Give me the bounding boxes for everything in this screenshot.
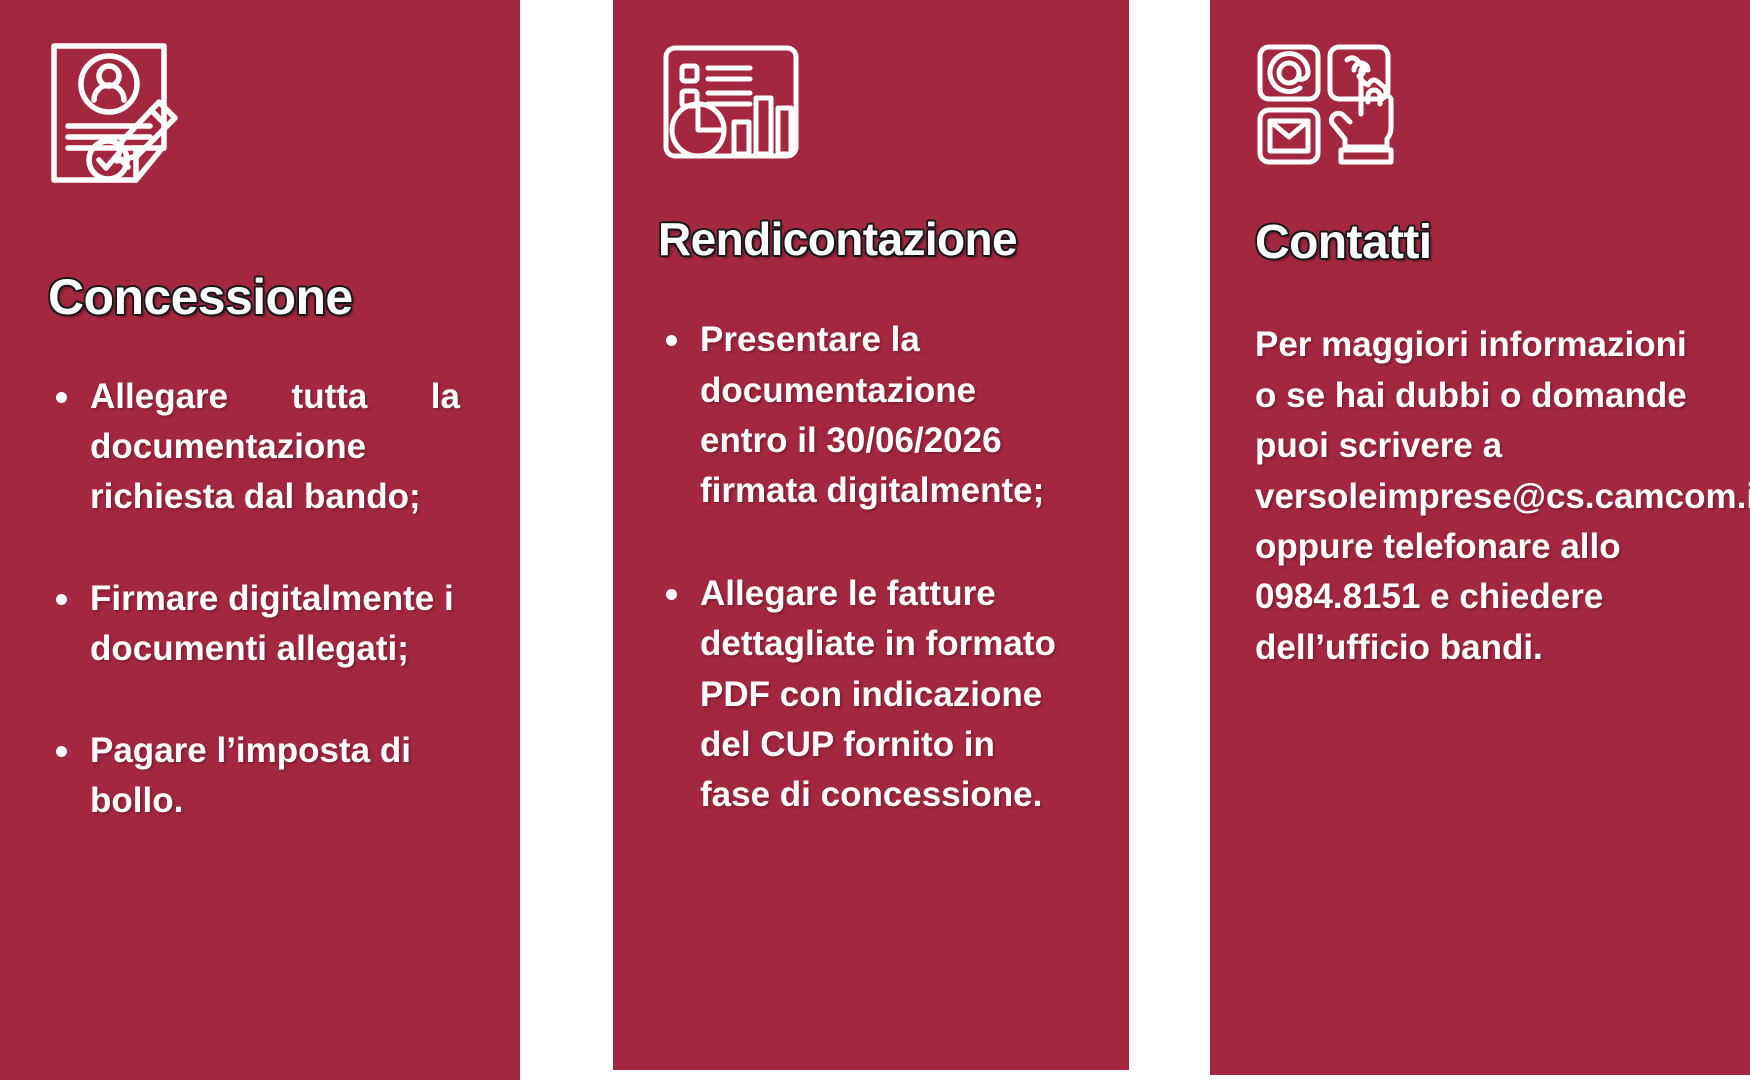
list-item: Pagare l’imposta di bollo. [48,726,460,826]
page-title-concessione: Concessione [48,271,460,324]
list-item: Allegare tutta la documentazione richies… [48,372,460,522]
page-title-rendicontazione: Rendicontazione [658,215,1069,263]
bullet-list-rendicontazione: Presentare la documentazione entro il 30… [658,315,1069,821]
infographic-slide: Concessione Allegare tutta la documentaz… [0,0,1750,1080]
bullet-list-concessione: Allegare tutta la documentazione richies… [48,372,460,826]
card-concessione: Concessione Allegare tutta la documentaz… [0,0,520,1080]
page-title-contatti: Contatti [1255,218,1710,268]
list-item: Allegare le fatture dettagliate in forma… [658,569,1069,821]
card-contatti: Contatti Per maggiori informazioni o se … [1210,0,1750,1075]
card-rendicontazione: Rendicontazione Presentare la documentaz… [613,0,1129,1070]
list-item: Presentare la documentazione entro il 30… [658,315,1069,517]
report-dashboard-icon [658,42,1069,169]
contact-info-paragraph: Per maggiori informazioni o se hai dubbi… [1255,320,1710,673]
list-item: Firmare digitalmente i documenti allegat… [48,574,460,674]
contacts-icon [1255,42,1710,172]
document-signature-icon [46,38,460,193]
